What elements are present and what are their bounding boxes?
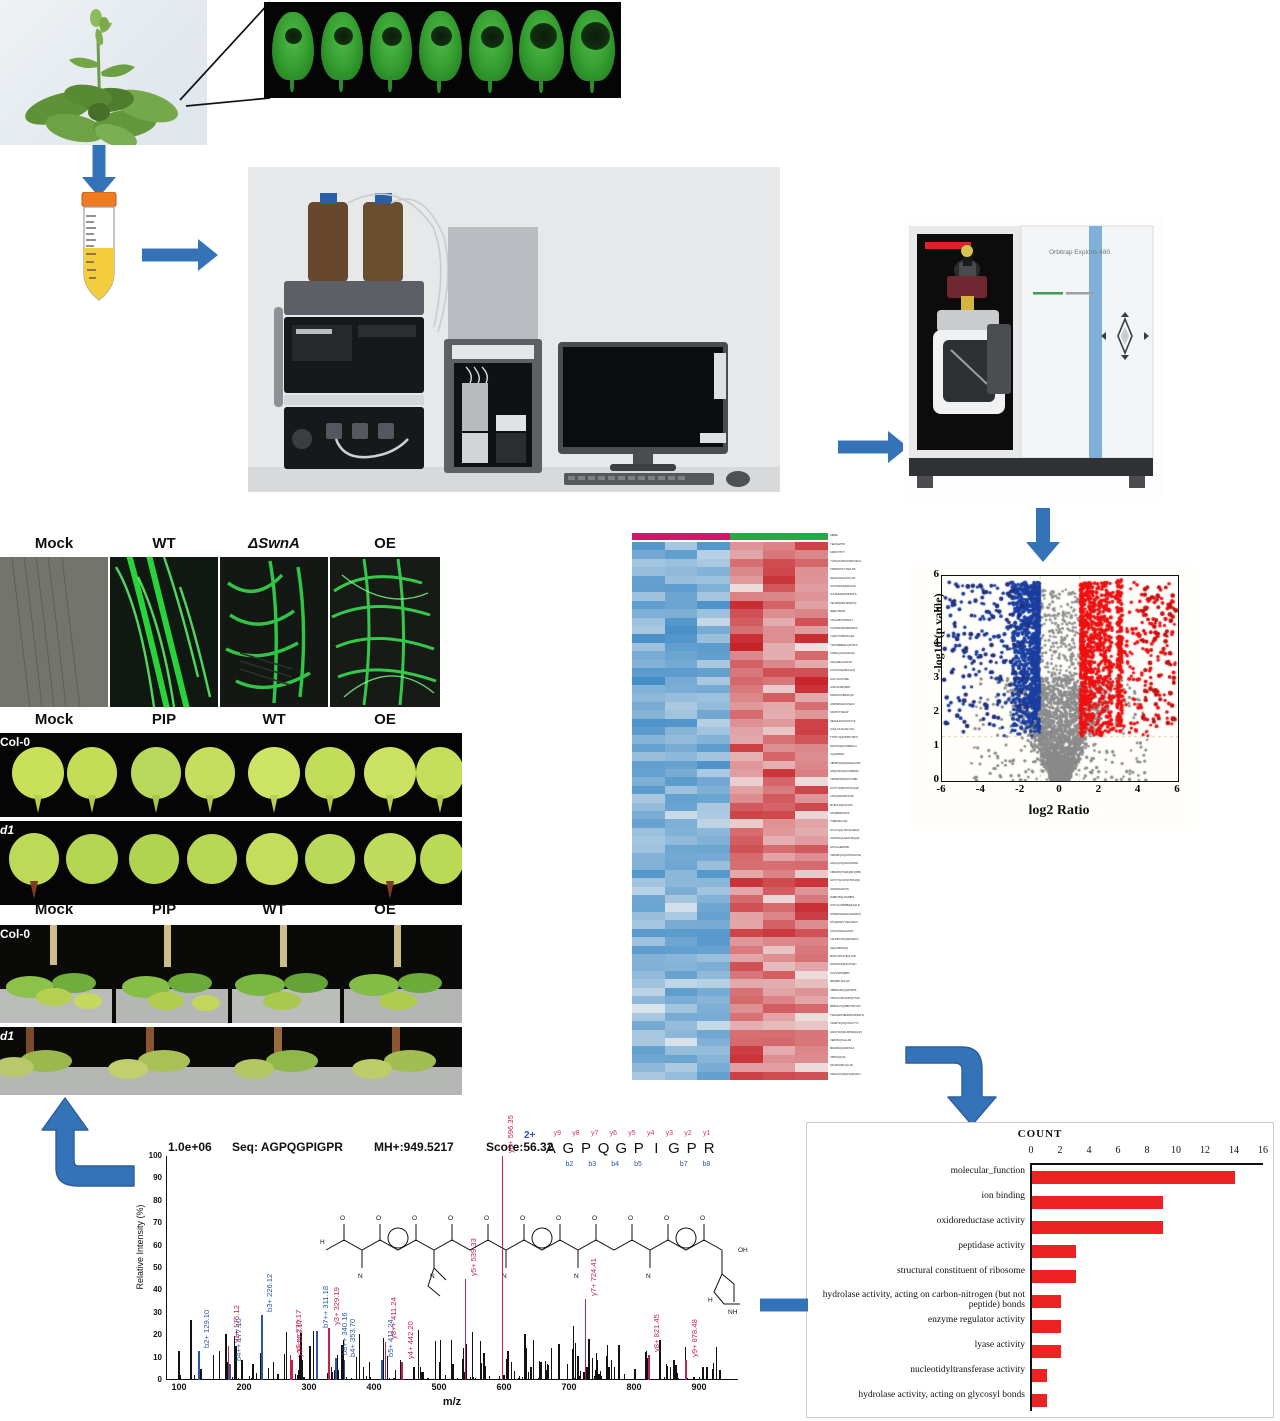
heatmap-cell <box>763 777 796 785</box>
heatmap-cell <box>665 626 698 634</box>
heatmap-cell <box>763 761 796 769</box>
heatmap-class-segment <box>665 533 698 540</box>
volcano-x-ticks: -6-4-20246 <box>941 783 1177 797</box>
spectrum-noise-peak <box>356 1357 357 1380</box>
spectrum-peak <box>673 1360 675 1380</box>
sequence-y-ion: y6 <box>604 1130 623 1137</box>
heatmap-cell <box>697 710 730 718</box>
spectrum-noise-peak <box>200 1373 201 1380</box>
heatmap-row-label: MODYFPKLYEQLSSK <box>830 954 910 962</box>
heatmap-cell <box>795 971 828 979</box>
spectrum-noise-peak <box>413 1367 414 1380</box>
volcano-y-tick: 3 <box>921 671 939 683</box>
heatmap-row-label: LEQLKBFWNQ <box>830 946 910 954</box>
heatmap-row-label: RXXSLWQPHKATQRY <box>830 962 910 970</box>
spectrum-noise-peak <box>712 1369 713 1380</box>
heatmap-row-label: YEHFLETPK <box>830 542 910 550</box>
sequence-y-ion: y4 <box>641 1130 660 1137</box>
heatmap-cell <box>632 710 665 718</box>
heatmap-cell <box>665 811 698 819</box>
heatmap-class-segment <box>697 533 730 540</box>
zoom-callout-lines <box>150 0 280 115</box>
heatmap-cell <box>730 1055 763 1063</box>
heatmap-cell <box>697 912 730 920</box>
spectrum-noise-peak <box>519 1376 520 1380</box>
heatmap-row-label: IHBNRAFDQQDWATB <box>830 988 910 996</box>
heatmap-cell <box>665 1055 698 1063</box>
heatmap-cell <box>763 542 796 550</box>
go-category-label: molecular_function <box>811 1166 1025 1176</box>
heatmap-cell <box>730 584 763 592</box>
heatmap-row-label: TTWKYQQPRFDYSBTI <box>830 735 910 743</box>
heatmap-cell <box>730 702 763 710</box>
heatmap-cell <box>632 735 665 743</box>
heatmap-cells <box>632 542 828 1080</box>
heatmap-class-label: class <box>830 533 838 537</box>
heatmap-cell <box>697 946 730 954</box>
spectrum-peak <box>452 1364 454 1380</box>
heatmap-cell <box>665 971 698 979</box>
go-bar <box>1032 1221 1163 1234</box>
heatmap-row-label: DLNYLKAATME <box>830 677 910 685</box>
spectrum-y-tick: 60 <box>142 1241 162 1250</box>
spectrum-annotated-peak <box>261 1315 263 1380</box>
heatmap-cell <box>795 836 828 844</box>
heatmap-cell <box>730 979 763 987</box>
lc-system-photo <box>248 167 780 492</box>
heatmap-cell <box>763 584 796 592</box>
heatmap-cell <box>730 609 763 617</box>
heatmap-cell <box>795 996 828 1004</box>
heatmap-cell <box>795 542 828 550</box>
heatmap-cell <box>665 1013 698 1021</box>
heatmap-row-label: RHBDTDALDQRBFF <box>830 895 910 903</box>
spectrum-noise-peak <box>251 1378 252 1380</box>
spectrum-peak-label: y8++ 411.24 <box>389 1297 398 1339</box>
spectrum-noise-peak <box>475 1378 476 1380</box>
spectrum-y-tick: 80 <box>142 1196 162 1205</box>
heatmap-row-label: HSQLQHQQLDARNSW <box>830 861 910 869</box>
heatmap-cell <box>697 828 730 836</box>
heatmap-cell <box>632 836 665 844</box>
heatmap-cell <box>665 752 698 760</box>
heatmap-cell <box>632 542 665 550</box>
heatmap-cell <box>632 727 665 735</box>
spectrum-noise-peak <box>556 1379 557 1380</box>
micro-side-label-d1-plants: d1 <box>0 1029 14 1043</box>
heatmap-cell <box>730 668 763 676</box>
spectrum-peak-label: b2+ 129.10 <box>202 1310 211 1348</box>
micro-label-pip: PIP <box>110 901 218 918</box>
heatmap-cell <box>763 643 796 651</box>
heatmap-cell <box>730 878 763 886</box>
heatmap-cell <box>763 903 796 911</box>
heatmap-cell <box>697 962 730 970</box>
spectrum-peak <box>511 1362 513 1380</box>
heatmap-cell <box>665 559 698 567</box>
heatmap-cell <box>795 727 828 735</box>
heatmap-row-label: HSQNJKHQGKAKBNRK <box>830 769 910 777</box>
infected-leaf-strip <box>264 2 621 98</box>
spectrum-noise-peak <box>728 1379 729 1380</box>
heatmap-cell <box>795 887 828 895</box>
heatmap-cell <box>665 996 698 1004</box>
micro-label-mock: Mock <box>0 711 108 728</box>
heatmap-cell <box>763 752 796 760</box>
heatmap-cell <box>697 744 730 752</box>
heatmap-cell <box>697 996 730 1004</box>
micro-label--swna: ΔSwnA <box>220 535 328 552</box>
spectrum-noise-peak <box>716 1347 717 1380</box>
spectrum-noise-peak <box>589 1378 590 1380</box>
spectrum-y-tick: 30 <box>142 1308 162 1317</box>
heatmap-cell <box>665 576 698 584</box>
micro-img-swna-deletion <box>220 557 328 707</box>
heatmap-cell <box>730 727 763 735</box>
heatmap-cell <box>730 1021 763 1029</box>
heatmap-cell <box>730 1046 763 1054</box>
mass-spectrometer-photo: Orbitrap Exploris 480 <box>903 218 1163 498</box>
heatmap-row-label: KSRRRSTLTYADLDR <box>830 567 910 575</box>
heatmap-cell <box>730 870 763 878</box>
heatmap-cell <box>763 878 796 886</box>
spectrum-noise-peak <box>359 1334 360 1380</box>
heatmap-cell <box>632 878 665 886</box>
heatmap-cell <box>795 719 828 727</box>
heatmap-cell <box>763 1072 796 1080</box>
go-bar <box>1032 1369 1047 1382</box>
heatmap-cell <box>795 954 828 962</box>
heatmap-cell <box>763 845 796 853</box>
heatmap-cell <box>697 693 730 701</box>
heatmap-cell <box>697 878 730 886</box>
micro-label-oe: OE <box>330 901 440 918</box>
heatmap-cell <box>763 744 796 752</box>
heatmap-cell <box>632 693 665 701</box>
spectrum-noise-peak <box>364 1379 365 1381</box>
spectrum-peak-label: y6+ 596.35 <box>506 1115 515 1153</box>
heatmap-cell <box>665 962 698 970</box>
go-x-tick: 6 <box>1108 1145 1128 1156</box>
heatmap-cell <box>795 651 828 659</box>
heatmap-cell <box>632 870 665 878</box>
heatmap-cell <box>697 937 730 945</box>
heatmap-cell <box>697 777 730 785</box>
heatmap-cell <box>795 786 828 794</box>
heatmap-cell <box>632 744 665 752</box>
heatmap-cell <box>763 1038 796 1046</box>
heatmap-cell <box>730 660 763 668</box>
heatmap-cell <box>697 1021 730 1029</box>
heatmap-cell <box>697 1038 730 1046</box>
heatmap-cell <box>730 836 763 844</box>
heatmap-row-label: TELNMQDDLMNRVQI <box>830 601 910 609</box>
go-bar <box>1032 1245 1076 1258</box>
heatmap-row-label: SVQVSPSQBBV <box>830 971 910 979</box>
spectrum-noise-peak <box>309 1346 310 1380</box>
heatmap-cell <box>665 794 698 802</box>
spectrum-noise-peak <box>614 1378 615 1380</box>
go-category-label: structural constituent of ribosome <box>811 1266 1025 1276</box>
spectrum-peak <box>608 1367 610 1380</box>
heatmap-cell <box>632 946 665 954</box>
spectrum-noise-peak <box>210 1379 211 1380</box>
heatmap-cell <box>665 937 698 945</box>
sequence-residue: P <box>630 1140 648 1157</box>
heatmap-cell <box>763 609 796 617</box>
spectrum-noise-peak <box>687 1378 688 1380</box>
heatmap-cell <box>730 634 763 642</box>
spectrum-noise-peak <box>577 1356 578 1380</box>
spectrum-peak <box>190 1320 192 1380</box>
heatmap-cell <box>795 878 828 886</box>
micro-row1-labels: MockWTΔSwnAOE <box>0 533 462 557</box>
heatmap-cell <box>665 727 698 735</box>
micro-img-oe <box>330 557 440 707</box>
heatmap-cell <box>632 559 665 567</box>
heatmap-cell <box>795 794 828 802</box>
spectrum-noise-peak <box>624 1374 625 1380</box>
heatmap-cell <box>730 929 763 937</box>
heatmap-cell <box>665 836 698 844</box>
go-bar <box>1032 1345 1061 1358</box>
heatmap-cell <box>763 996 796 1004</box>
heatmap-cell <box>763 971 796 979</box>
heatmap-row-label: MTENLDQKAFVFS <box>830 803 910 811</box>
heatmap-cell <box>730 559 763 567</box>
sequence-y-ion: y1 <box>697 1130 716 1137</box>
heatmap-cell <box>795 903 828 911</box>
leaf-row-col0 <box>0 733 462 817</box>
spectrum-noise-peak <box>303 1377 304 1380</box>
spectrum-x-tick: 400 <box>361 1382 387 1392</box>
heatmap-cell <box>632 937 665 945</box>
micro-row2-labels: MockPIPWTOE <box>0 709 462 733</box>
micro-label-mock: Mock <box>0 901 108 918</box>
heatmap-row-label: HNDSDDHDGYEHKI <box>830 702 910 710</box>
heatmap-cell <box>730 1013 763 1021</box>
spectrum-noise-peak <box>363 1367 364 1381</box>
spectrum-noise-peak <box>485 1366 486 1380</box>
heatmap-cell <box>697 769 730 777</box>
spectrum-noise-peak <box>540 1362 541 1380</box>
heatmap-cell <box>795 761 828 769</box>
heatmap-cell <box>632 643 665 651</box>
sample-tube <box>72 192 126 304</box>
plant-row-d1 <box>0 1027 462 1095</box>
spectrum-peak-label: b4+ 353.70 <box>348 1319 357 1357</box>
spectrum-noise-peak <box>489 1378 490 1380</box>
spectrum-annotated-peak <box>335 1358 337 1380</box>
heatmap-cell <box>697 584 730 592</box>
spectrum-noise-peak <box>324 1379 325 1381</box>
heatmap-cell <box>665 618 698 626</box>
heatmap-cell <box>697 920 730 928</box>
heatmap-cell <box>632 861 665 869</box>
heatmap-cell <box>730 954 763 962</box>
heatmap-cell <box>795 744 828 752</box>
heatmap-cell <box>795 979 828 987</box>
spectrum-noise-peak <box>387 1356 388 1380</box>
heatmap-cell <box>763 626 796 634</box>
spectrum-y-tick: 70 <box>142 1218 162 1227</box>
heatmap-cell <box>632 920 665 928</box>
spectrum-annotated-peak <box>328 1328 330 1380</box>
heatmap-cell <box>632 685 665 693</box>
spectrum-noise-peak <box>592 1358 593 1380</box>
heatmap-cell <box>632 887 665 895</box>
heatmap-cell <box>632 803 665 811</box>
heatmap-cell <box>763 601 796 609</box>
spectrum-x-tick: 800 <box>621 1382 647 1392</box>
heatmap-cell <box>730 1030 763 1038</box>
heatmap-cell <box>795 559 828 567</box>
heatmap-cell <box>697 929 730 937</box>
heatmap-cell <box>763 786 796 794</box>
heatmap-cell <box>795 819 828 827</box>
heatmap-cell <box>632 819 665 827</box>
sequence-residue: I <box>648 1140 666 1157</box>
heatmap-cell <box>730 643 763 651</box>
heatmap-cell <box>730 626 763 634</box>
spectrum-noise-peak <box>313 1331 314 1380</box>
heatmap-cell <box>665 954 698 962</box>
heatmap-cell <box>697 870 730 878</box>
heatmap-cell <box>730 861 763 869</box>
spectrum-annotated-peak <box>316 1331 318 1380</box>
heatmap-cell <box>730 912 763 920</box>
spectrum-noise-peak <box>219 1351 220 1380</box>
heatmap-cell <box>795 870 828 878</box>
heatmap-cell <box>697 954 730 962</box>
heatmap-row-label: HVNYTQSPWTFKFQQP <box>830 786 910 794</box>
heatmap-cell <box>763 979 796 987</box>
heatmap-cell <box>697 811 730 819</box>
heatmap-cell <box>795 946 828 954</box>
heatmap-cell <box>730 962 763 970</box>
heatmap-cell <box>632 677 665 685</box>
volcano-y-tick: 5 <box>921 602 939 614</box>
heatmap-cell <box>632 979 665 987</box>
sequence-y-ion: y7 <box>585 1130 604 1137</box>
spectrum-annotated-peak <box>401 1362 403 1380</box>
heatmap-row-label: GIDCVASRFBRN <box>830 685 910 693</box>
heatmap-cell <box>795 962 828 970</box>
heatmap-cell <box>665 601 698 609</box>
heatmap-cell <box>665 651 698 659</box>
heatmap-cell <box>632 660 665 668</box>
heatmap-cell <box>795 576 828 584</box>
heatmap-cell <box>697 567 730 575</box>
heatmap-cell <box>795 660 828 668</box>
spectrum-noise-peak <box>499 1376 500 1380</box>
volcano-y-tick: 4 <box>921 636 939 648</box>
heatmap-cell <box>697 1063 730 1071</box>
heatmap-cell <box>730 845 763 853</box>
heatmap-cell <box>730 752 763 760</box>
sequence-residue: A <box>542 1140 560 1157</box>
spectrum-peak-label: y8+ 821.45 <box>652 1315 661 1353</box>
spectrum-noise-peak <box>284 1354 285 1380</box>
spectrum-noise-peak <box>481 1363 482 1380</box>
heatmap-cell <box>697 786 730 794</box>
heatmap-cell <box>795 1055 828 1063</box>
spectrum-noise-peak <box>559 1367 560 1380</box>
heatmap-cell <box>697 895 730 903</box>
heatmap-cell <box>730 618 763 626</box>
heatmap-cell <box>665 634 698 642</box>
heatmap-row-label: YQSNYTDRPDLQDL <box>830 634 910 642</box>
heatmap-cell <box>665 786 698 794</box>
heatmap-cell <box>763 1055 796 1063</box>
heatmap-row-label: HARVBLQLAEAFTEQQK <box>830 836 910 844</box>
heatmap-cell <box>632 929 665 937</box>
go-category-label: peptidase activity <box>811 1241 1025 1251</box>
spectrum-y-tick: 0 <box>142 1375 162 1384</box>
heatmap-cell <box>632 962 665 970</box>
volcano-y-ticks: 0123456 <box>921 575 939 780</box>
heatmap-cell <box>795 592 828 600</box>
heatmap-cell <box>697 1013 730 1021</box>
spectrum-peak-label: b3+ 226.12 <box>265 1274 274 1312</box>
sequence-y-ion: y3 <box>660 1130 679 1137</box>
sequence-residue: Q <box>595 1140 613 1157</box>
heatmap-cell <box>665 550 698 558</box>
spectrum-noise-peak <box>435 1341 436 1380</box>
heatmap-cell <box>632 988 665 996</box>
spectrum-noise-peak <box>507 1351 508 1380</box>
spectrum-noise-peak <box>295 1374 296 1380</box>
heatmap-cell <box>697 643 730 651</box>
heatmap-cell <box>730 971 763 979</box>
heatmap-cell <box>665 819 698 827</box>
heatmap-row-label: VRPNQQVFL <box>830 1055 910 1063</box>
heatmap-cell <box>763 861 796 869</box>
heatmap-cell <box>795 1030 828 1038</box>
heatmap-cell <box>795 735 828 743</box>
spectrum-noise-peak <box>232 1377 233 1380</box>
heatmap-row-label: MBQBKLANLQA <box>830 979 910 987</box>
heatmap-cell <box>632 845 665 853</box>
spectrum-x-tick: 900 <box>686 1382 712 1392</box>
heatmap-row-label: HVNYTQLSFWFTRFQQF <box>830 878 910 886</box>
spectrum-header-mh: MH+:949.5217 <box>374 1140 454 1154</box>
heatmap-cell <box>665 845 698 853</box>
arrow-lc-to-ms <box>838 430 910 464</box>
heatmap-cell <box>763 1063 796 1071</box>
spectrum-noise-peak <box>611 1360 612 1380</box>
heatmap-cell <box>730 761 763 769</box>
spectrum-x-tick: 200 <box>231 1382 257 1392</box>
heatmap-cell <box>665 542 698 550</box>
heatmap-cell <box>697 550 730 558</box>
microscopy-phenotype-panel: MockWTΔSwnAOE <box>0 533 462 1095</box>
heatmap-cell <box>763 719 796 727</box>
micro-label-wt: WT <box>220 711 328 728</box>
spectrum-noise-peak <box>706 1367 707 1380</box>
heatmap-row-label: HATLGHEWNRL <box>830 845 910 853</box>
heatmap-cell <box>665 853 698 861</box>
heatmap-cell <box>632 895 665 903</box>
spectrum-noise-peak <box>588 1339 589 1380</box>
heatmap-cell <box>697 542 730 550</box>
heatmap-cell <box>795 853 828 861</box>
heatmap-cell <box>730 693 763 701</box>
heatmap-cell <box>665 777 698 785</box>
heatmap-cell <box>697 761 730 769</box>
heatmap-cell <box>697 668 730 676</box>
spectrum-peak-label: b7++ 311.18 <box>321 1286 330 1328</box>
